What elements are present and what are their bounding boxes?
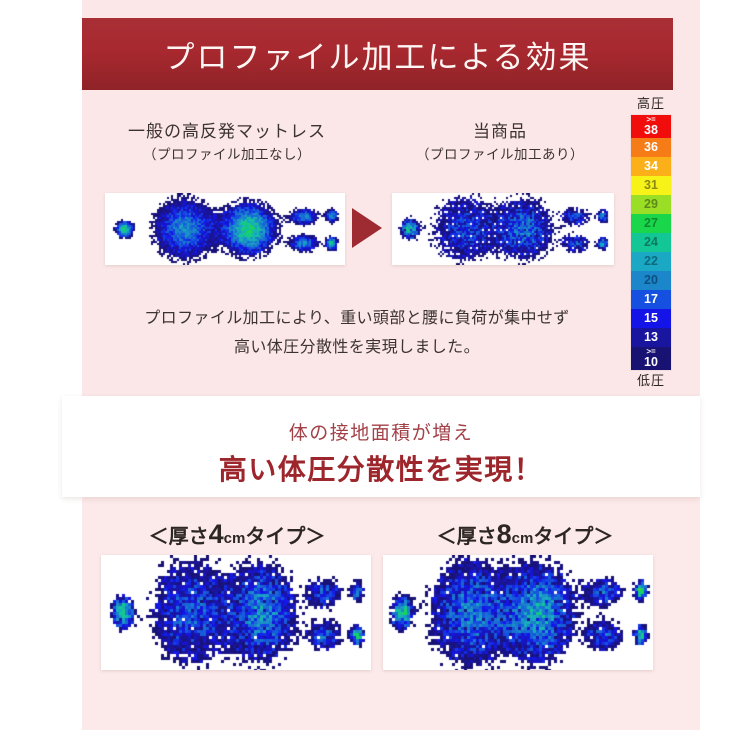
left-heading-sub: （プロファイル加工なし） [107,144,347,166]
legend-swatch-29: 29 [631,195,671,214]
pressure-map-card-4cm [101,555,371,670]
comparison-right-heading: 当商品 （プロファイル加工あり） [390,120,610,166]
description-line-2: 高い体圧分散性を実現しました。 [92,333,622,362]
pressure-legend: 高圧 >=383634312927242220171513>=10 低圧 [630,96,672,389]
pressure-heatmap-product [392,193,614,265]
right-heading-sub: （プロファイル加工あり） [390,144,610,166]
legend-swatch-31: 31 [631,176,671,195]
highlight-maintext: 高い体圧分散性を実現！ [62,448,700,488]
legend-swatch-17: 17 [631,290,671,309]
legend-value-22: 22 [644,255,658,268]
legend-swatch-15: 15 [631,309,671,328]
description-line-1: プロファイル加工により、重い頭部と腰に負荷が集中せず [92,304,622,333]
legend-value-10: 10 [644,356,658,369]
left-heading-main: 一般の高反発マットレス [107,120,347,144]
legend-value-17: 17 [644,293,658,306]
pressure-heatmap-8cm [383,555,653,670]
legend-swatch-38: >=38 [631,115,671,138]
legend-swatch-24: 24 [631,233,671,252]
legend-swatch-10: >=10 [631,347,671,370]
legend-value-29: 29 [644,198,658,211]
thickness-4cm-suffix: タイプ＞ [245,526,325,548]
legend-value-20: 20 [644,274,658,287]
comparison-left-heading: 一般の高反発マットレス （プロファイル加工なし） [107,120,347,166]
thickness-8cm-prefix: ＜厚さ [437,526,497,548]
pressure-heatmap-4cm [101,555,371,670]
legend-swatch-22: 22 [631,252,671,271]
thickness-4cm-unit: cm [224,530,246,547]
legend-value-38: 38 [644,124,658,137]
title-banner: プロファイル加工による効果 [82,18,673,90]
description-text: プロファイル加工により、重い頭部と腰に負荷が集中せず 高い体圧分散性を実現しまし… [92,304,622,362]
thickness-label-4cm: ＜厚さ4cmタイプ＞ [112,519,362,550]
legend-value-24: 24 [644,236,658,249]
thickness-4cm-number: 4 [209,519,224,549]
legend-swatch-20: 20 [631,271,671,290]
highlight-banner: 体の接地面積が増え 高い体圧分散性を実現！ [62,396,700,497]
legend-swatch-27: 27 [631,214,671,233]
legend-low-label: 低圧 [630,373,672,389]
page-title: プロファイル加工による効果 [82,18,673,90]
legend-swatch-34: 34 [631,157,671,176]
legend-value-31: 31 [644,179,658,192]
pressure-map-card-standard [105,193,345,265]
legend-value-27: 27 [644,217,658,230]
legend-prefix-10: >= [631,348,671,356]
legend-colorbar: >=383634312927242220171513>=10 [630,114,672,371]
legend-prefix-38: >= [631,116,671,124]
pressure-map-card-8cm [383,555,653,670]
thickness-label-8cm: ＜厚さ8cmタイプ＞ [400,519,650,550]
pressure-map-card-product [392,193,614,265]
thickness-4cm-prefix: ＜厚さ [149,526,209,548]
right-heading-main: 当商品 [390,120,610,144]
legend-value-36: 36 [644,141,658,154]
legend-swatch-36: 36 [631,138,671,157]
legend-value-15: 15 [644,312,658,325]
arrow-right-icon [352,208,382,248]
legend-high-label: 高圧 [630,96,672,112]
legend-value-34: 34 [644,160,658,173]
highlight-subtext: 体の接地面積が増え [62,418,700,445]
legend-value-13: 13 [644,331,658,344]
thickness-8cm-number: 8 [497,519,512,549]
pressure-heatmap-standard [105,193,345,265]
thickness-8cm-unit: cm [512,530,534,547]
thickness-8cm-suffix: タイプ＞ [533,526,613,548]
infographic-root: プロファイル加工による効果 一般の高反発マットレス （プロファイル加工なし） 当… [0,0,750,750]
legend-swatch-13: 13 [631,328,671,347]
